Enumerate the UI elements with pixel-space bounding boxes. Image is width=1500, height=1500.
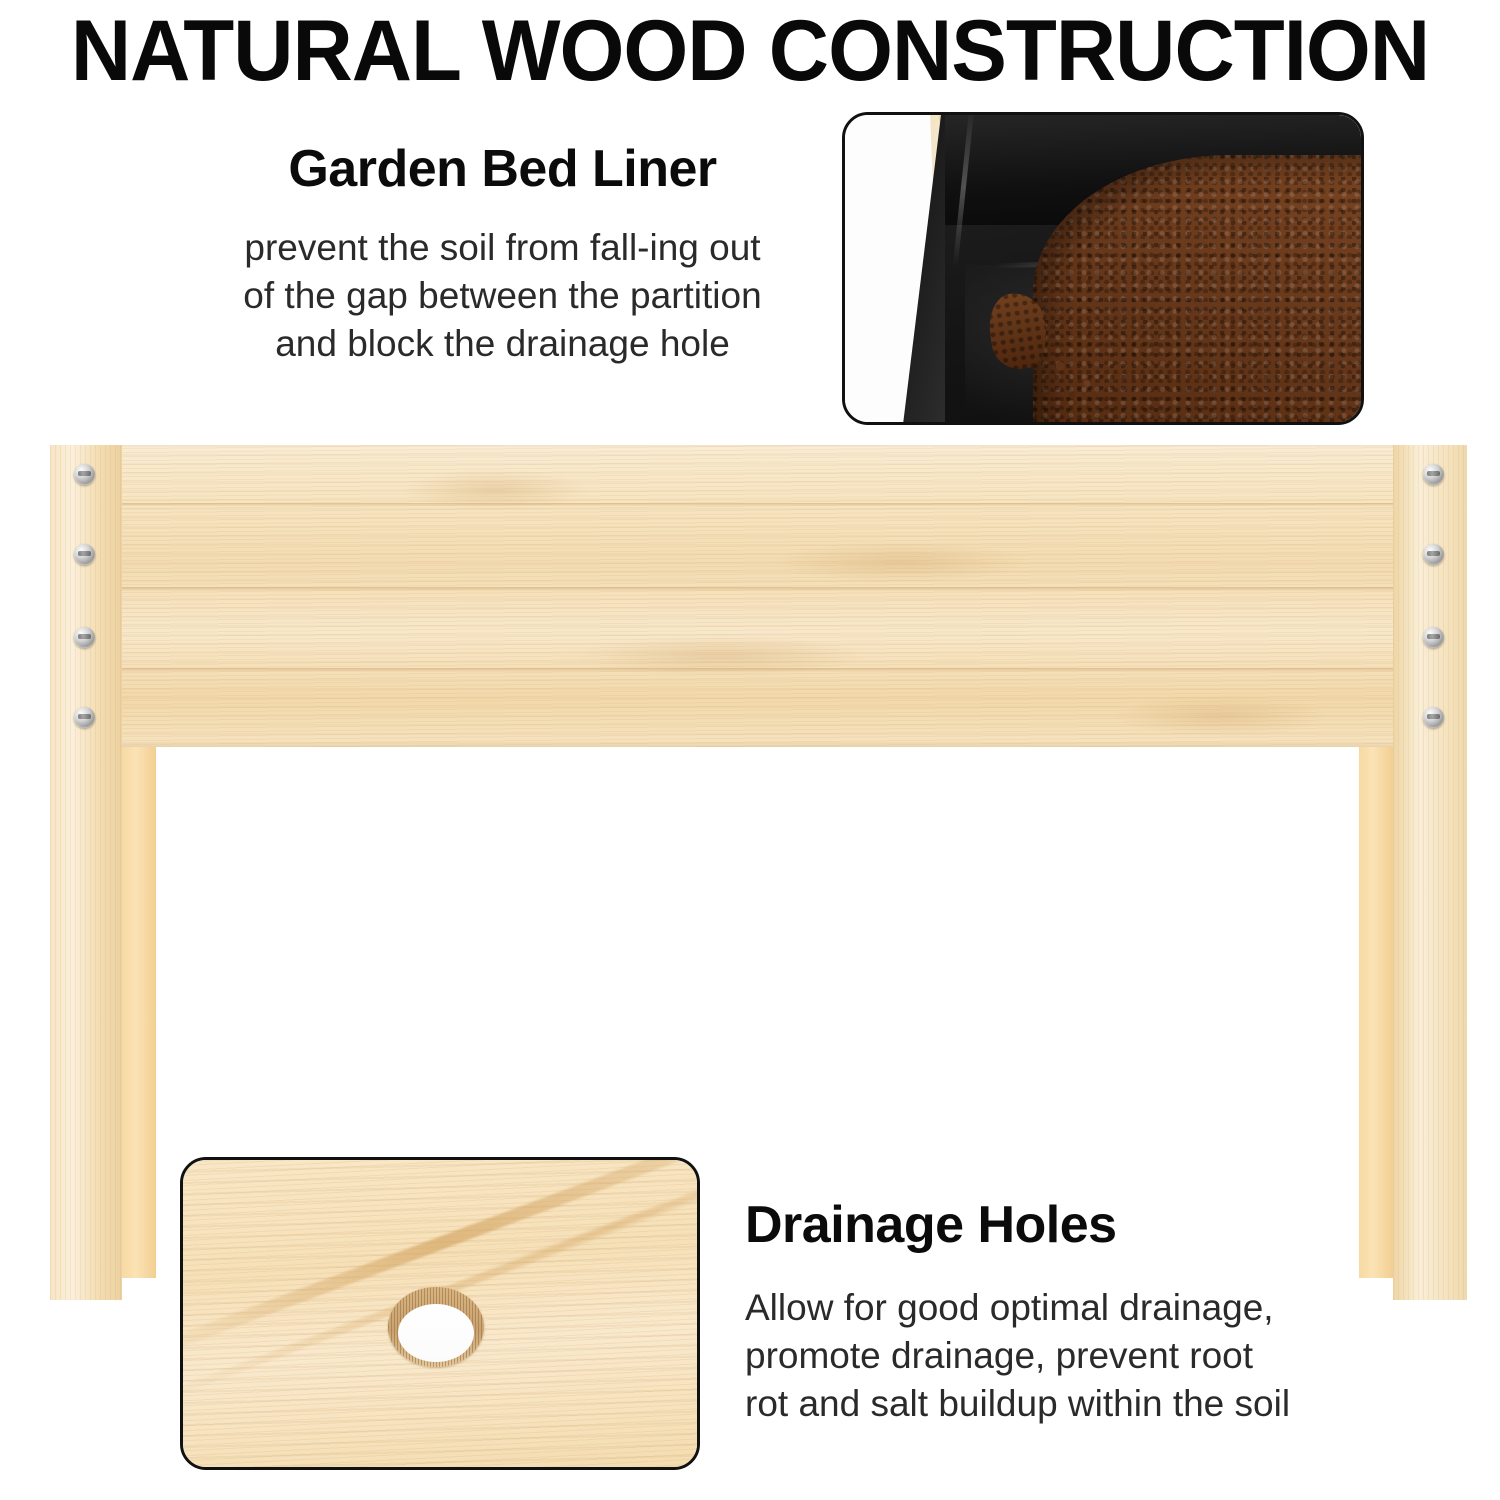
soil-scatter	[1045, 351, 1105, 401]
wood-knot	[1110, 695, 1330, 737]
drainage-description-line-2: promote drainage, prevent root	[745, 1332, 1425, 1380]
planter-post-right	[1393, 445, 1467, 1300]
plank-seam	[50, 587, 1465, 590]
screw-icon	[74, 627, 95, 648]
liner-photo-inset	[842, 112, 1364, 425]
screw-icon	[74, 544, 95, 565]
drainage-hole	[388, 1287, 484, 1367]
drainage-hole-opening	[398, 1304, 474, 1362]
infographic-canvas: NATURAL WOOD CONSTRUCTION Garden Bed Lin…	[0, 0, 1500, 1500]
planter-post-left	[50, 445, 122, 1300]
screw-icon	[74, 464, 95, 485]
drainage-description-line-1: Allow for good optimal drainage,	[745, 1284, 1425, 1332]
wood-knot	[770, 541, 1030, 583]
drainage-photo-inset	[180, 1157, 700, 1470]
screw-icon	[1423, 627, 1444, 648]
screw-icon	[74, 707, 95, 728]
plank-seam	[50, 503, 1465, 506]
drainage-wood-panel	[183, 1160, 697, 1467]
liner-feature-block: Garden Bed Liner prevent the soil from f…	[195, 140, 810, 368]
wood-knot	[400, 469, 590, 511]
drainage-heading: Drainage Holes	[745, 1196, 1425, 1254]
page-title: NATURAL WOOD CONSTRUCTION	[23, 6, 1478, 96]
drainage-description: Allow for good optimal drainage, promote…	[745, 1284, 1425, 1428]
wood-knot	[570, 635, 870, 677]
liner-description-line-2: of the gap between the partition	[195, 272, 810, 320]
liner-description-line-3: and block the drainage hole	[195, 320, 810, 368]
screw-icon	[1423, 544, 1444, 565]
drainage-feature-block: Drainage Holes Allow for good optimal dr…	[745, 1196, 1425, 1428]
planter-leg-inner-left	[122, 747, 156, 1278]
planter-box-panel	[50, 445, 1465, 747]
screw-icon	[1423, 464, 1444, 485]
liner-photo-image	[845, 115, 1361, 422]
screw-icon	[1423, 707, 1444, 728]
drainage-description-line-3: rot and salt buildup within the soil	[745, 1380, 1425, 1428]
liner-description: prevent the soil from fall-ing out of th…	[195, 224, 810, 368]
liner-description-line-1: prevent the soil from fall-ing out	[195, 224, 810, 272]
liner-heading: Garden Bed Liner	[195, 140, 810, 198]
